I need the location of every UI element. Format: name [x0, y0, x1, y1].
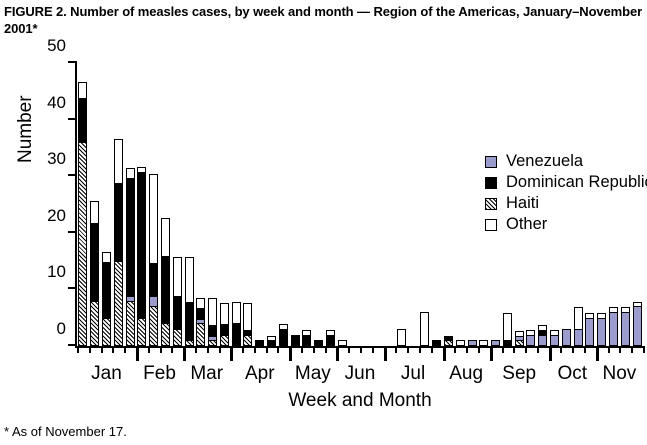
bar-segment-other [397, 329, 406, 346]
x-axis-month-divider [230, 346, 233, 361]
x-axis-tick [560, 346, 562, 353]
bar-week-35 [479, 340, 488, 346]
bar-segment-haiti [208, 340, 217, 346]
x-axis-month-divider [336, 346, 339, 361]
bar-week-7 [149, 171, 158, 346]
bar-segment-other [479, 340, 488, 346]
bar-segment-dominican-republic [114, 183, 123, 262]
y-axis-tick [68, 344, 77, 346]
x-axis-month-divider [384, 346, 387, 361]
x-axis-tick [171, 346, 173, 353]
bar-week-8 [161, 216, 170, 346]
x-axis-tick [619, 346, 621, 353]
bar-segment-dominican-republic [137, 172, 146, 319]
bar-week-46 [609, 306, 618, 346]
bar-segment-haiti [149, 306, 158, 346]
bar-segment-haiti [196, 323, 205, 346]
x-axis-tick [301, 346, 303, 353]
bar-segment-other [232, 302, 241, 325]
y-axis-tick-label: 50 [26, 37, 66, 54]
x-axis-tick [360, 346, 362, 353]
bar-segment-dominican-republic [78, 98, 87, 143]
bar-week-22 [326, 329, 335, 346]
bar-segment-haiti [173, 329, 182, 346]
bar-week-38 [515, 329, 524, 346]
bar-segment-dominican-republic [503, 340, 512, 346]
x-axis-month-divider [549, 346, 552, 361]
bar-segment-dominican-republic [102, 262, 111, 319]
bar-week-2 [90, 199, 99, 346]
x-axis-tick [572, 346, 574, 353]
x-axis-tick [101, 346, 103, 353]
bar-week-40 [538, 323, 547, 346]
bar-segment-other [161, 218, 170, 258]
bar-segment-other [114, 139, 123, 184]
x-axis-tick [242, 346, 244, 353]
bar-segment-venezuela [538, 335, 547, 346]
bar-week-31 [432, 340, 441, 346]
bar-segment-dominican-republic [173, 296, 182, 330]
x-axis-month-divider [596, 346, 599, 361]
bar-segment-dominican-republic [302, 335, 311, 346]
bar-segment-dominican-republic [255, 340, 264, 346]
x-axis-tick [313, 346, 315, 353]
bar-segment-haiti [137, 318, 146, 346]
x-axis-tick [325, 346, 327, 353]
bar-segment-dominican-republic [149, 263, 158, 297]
bar-week-5 [126, 165, 135, 346]
bar-week-6 [137, 165, 146, 346]
bar-week-45 [597, 312, 606, 346]
legend-item-dominican-republic: Dominican Republic [485, 172, 647, 193]
bar-week-43 [574, 306, 583, 346]
y-axis-tick-label: 40 [26, 94, 66, 111]
x-axis-month-divider [289, 346, 292, 361]
bar-segment-venezuela [491, 340, 500, 346]
bar-segment-other [220, 303, 229, 326]
bar-week-17 [267, 335, 276, 346]
bar-segment-haiti [102, 318, 111, 346]
bar-week-34 [468, 340, 477, 346]
bar-segment-venezuela [574, 329, 583, 346]
bar-segment-other [173, 257, 182, 297]
x-axis-tick [454, 346, 456, 353]
x-axis-tick [89, 346, 91, 353]
bar-segment-dominican-republic [326, 335, 335, 346]
bar-week-39 [526, 329, 535, 346]
bar-segment-venezuela [526, 335, 535, 346]
x-axis-tick [160, 346, 162, 353]
bar-segment-other [456, 340, 465, 346]
x-axis-tick [466, 346, 468, 353]
x-axis-tick [502, 346, 504, 353]
bar-week-48 [633, 301, 642, 346]
x-axis-tick [112, 346, 114, 353]
bar-week-30 [420, 312, 429, 346]
y-axis-tick [68, 118, 77, 120]
x-axis-tick [537, 346, 539, 353]
x-axis-title: Week and Month [77, 390, 643, 412]
bar-week-3 [102, 250, 111, 346]
x-axis-tick [419, 346, 421, 353]
bar-segment-haiti [243, 335, 252, 346]
x-axis-month-divider [136, 346, 139, 361]
bar-segment-haiti [90, 301, 99, 346]
x-axis-tick [584, 346, 586, 353]
bar-week-21 [314, 340, 323, 346]
bar-week-4 [114, 137, 123, 346]
bar-segment-venezuela [633, 306, 642, 346]
bar-segment-dominican-republic [90, 223, 99, 302]
y-axis-tick [68, 231, 77, 233]
x-axis-tick [372, 346, 374, 353]
bar-week-32 [444, 335, 453, 346]
legend-item-haiti: Haiti [485, 193, 647, 214]
x-axis-tick [608, 346, 610, 353]
x-axis-tick [219, 346, 221, 353]
chart-legend: Venezuela Dominican Republic Haiti Other [485, 151, 647, 235]
bar-week-19 [291, 335, 300, 346]
venezuela-swatch-icon [485, 156, 497, 168]
dominican-republic-swatch-icon [485, 177, 497, 189]
bar-segment-dominican-republic [232, 323, 241, 346]
bar-segment-haiti [78, 142, 87, 346]
bar-week-18 [279, 323, 288, 346]
bar-week-13 [220, 301, 229, 346]
x-axis-tick [124, 346, 126, 353]
bar-week-1 [78, 80, 87, 346]
x-axis-tick [207, 346, 209, 353]
x-axis-tick [266, 346, 268, 353]
bar-segment-haiti [161, 323, 170, 346]
bar-segment-venezuela [609, 312, 618, 346]
bar-week-16 [255, 340, 264, 346]
x-axis-tick [77, 346, 79, 353]
bar-week-33 [456, 340, 465, 346]
bar-segment-dominican-republic [161, 256, 170, 324]
x-axis-tick [478, 346, 480, 353]
bar-week-42 [562, 329, 571, 346]
bar-segment-venezuela [585, 318, 594, 346]
bar-week-11 [196, 295, 205, 346]
bar-week-28 [397, 329, 406, 346]
bar-segment-other [78, 82, 87, 99]
y-axis-tick-label: 10 [26, 263, 66, 280]
bar-segment-venezuela [562, 329, 571, 346]
legend-item-other: Other [485, 214, 647, 235]
bar-segment-haiti [220, 335, 229, 346]
bar-segment-other [149, 174, 158, 265]
legend-label-haiti: Haiti [506, 195, 539, 212]
chart-plot-area: Number 01020304050 JanFebMarAprMayJunJul… [75, 63, 643, 348]
bar-segment-haiti [444, 340, 453, 346]
bar-segment-haiti [515, 340, 524, 346]
bar-segment-other [574, 307, 583, 330]
bar-segment-dominican-republic [279, 329, 288, 346]
legend-label-venezuela: Venezuela [506, 153, 583, 170]
legend-item-venezuela: Venezuela [485, 151, 647, 172]
bar-week-36 [491, 340, 500, 346]
x-axis-tick [431, 346, 433, 353]
bar-segment-dominican-republic [185, 302, 194, 342]
bar-segment-dominican-republic [314, 340, 323, 346]
bar-week-14 [232, 301, 241, 346]
x-axis-tick [643, 346, 645, 353]
bar-week-23 [338, 340, 347, 346]
bar-segment-dominican-republic [126, 178, 135, 297]
x-axis-month-label: Nov [584, 364, 647, 384]
bar-week-41 [550, 329, 559, 346]
bar-segment-other [338, 340, 347, 346]
bar-segment-dominican-republic [267, 340, 276, 346]
x-axis-tick [395, 346, 397, 353]
bar-week-15 [243, 301, 252, 346]
x-axis-tick [525, 346, 527, 353]
x-axis-tick [195, 346, 197, 353]
x-axis-tick [148, 346, 150, 353]
bar-segment-venezuela [468, 340, 477, 346]
bar-segment-other [185, 257, 194, 302]
haiti-swatch-icon [485, 198, 497, 210]
bar-week-10 [185, 255, 194, 346]
x-axis-month-divider [443, 346, 446, 361]
legend-label-dominican-republic: Dominican Republic [506, 174, 647, 191]
x-axis-tick [407, 346, 409, 353]
bar-segment-venezuela [621, 312, 630, 346]
bar-week-9 [173, 255, 182, 346]
bar-week-47 [621, 306, 630, 346]
bar-week-20 [302, 329, 311, 346]
bar-segment-dominican-republic [291, 335, 300, 346]
x-axis-tick [513, 346, 515, 353]
bar-segment-venezuela [597, 318, 606, 346]
figure-footnote: * As of November 17. [4, 424, 127, 439]
y-axis-tick [68, 287, 77, 289]
bar-week-37 [503, 312, 512, 346]
bar-segment-other [90, 201, 99, 224]
x-axis-tick [254, 346, 256, 353]
bar-week-12 [208, 295, 217, 346]
bar-segment-other [243, 303, 252, 331]
bar-segment-venezuela [550, 335, 559, 346]
legend-label-other: Other [506, 216, 547, 233]
y-axis-tick-label: 20 [26, 207, 66, 224]
bar-segment-dominican-republic [432, 340, 441, 346]
y-axis-tick [68, 61, 77, 63]
figure-title: FIGURE 2. Number of measles cases, by we… [4, 3, 644, 37]
bar-week-44 [585, 312, 594, 346]
bar-segment-haiti [185, 340, 194, 346]
y-axis-tick-label: 0 [26, 320, 66, 337]
bar-segment-haiti [126, 301, 135, 346]
y-axis-tick [68, 174, 77, 176]
bar-segment-other [208, 298, 217, 326]
bar-segment-haiti [114, 261, 123, 346]
bar-segment-other [503, 313, 512, 341]
x-axis-tick [348, 346, 350, 353]
y-axis-tick-label: 30 [26, 150, 66, 167]
x-axis-month-divider [183, 346, 186, 361]
other-swatch-icon [485, 219, 497, 231]
x-axis-month-divider [490, 346, 493, 361]
x-axis-tick [631, 346, 633, 353]
bar-segment-other [420, 312, 429, 346]
x-axis-tick [277, 346, 279, 353]
